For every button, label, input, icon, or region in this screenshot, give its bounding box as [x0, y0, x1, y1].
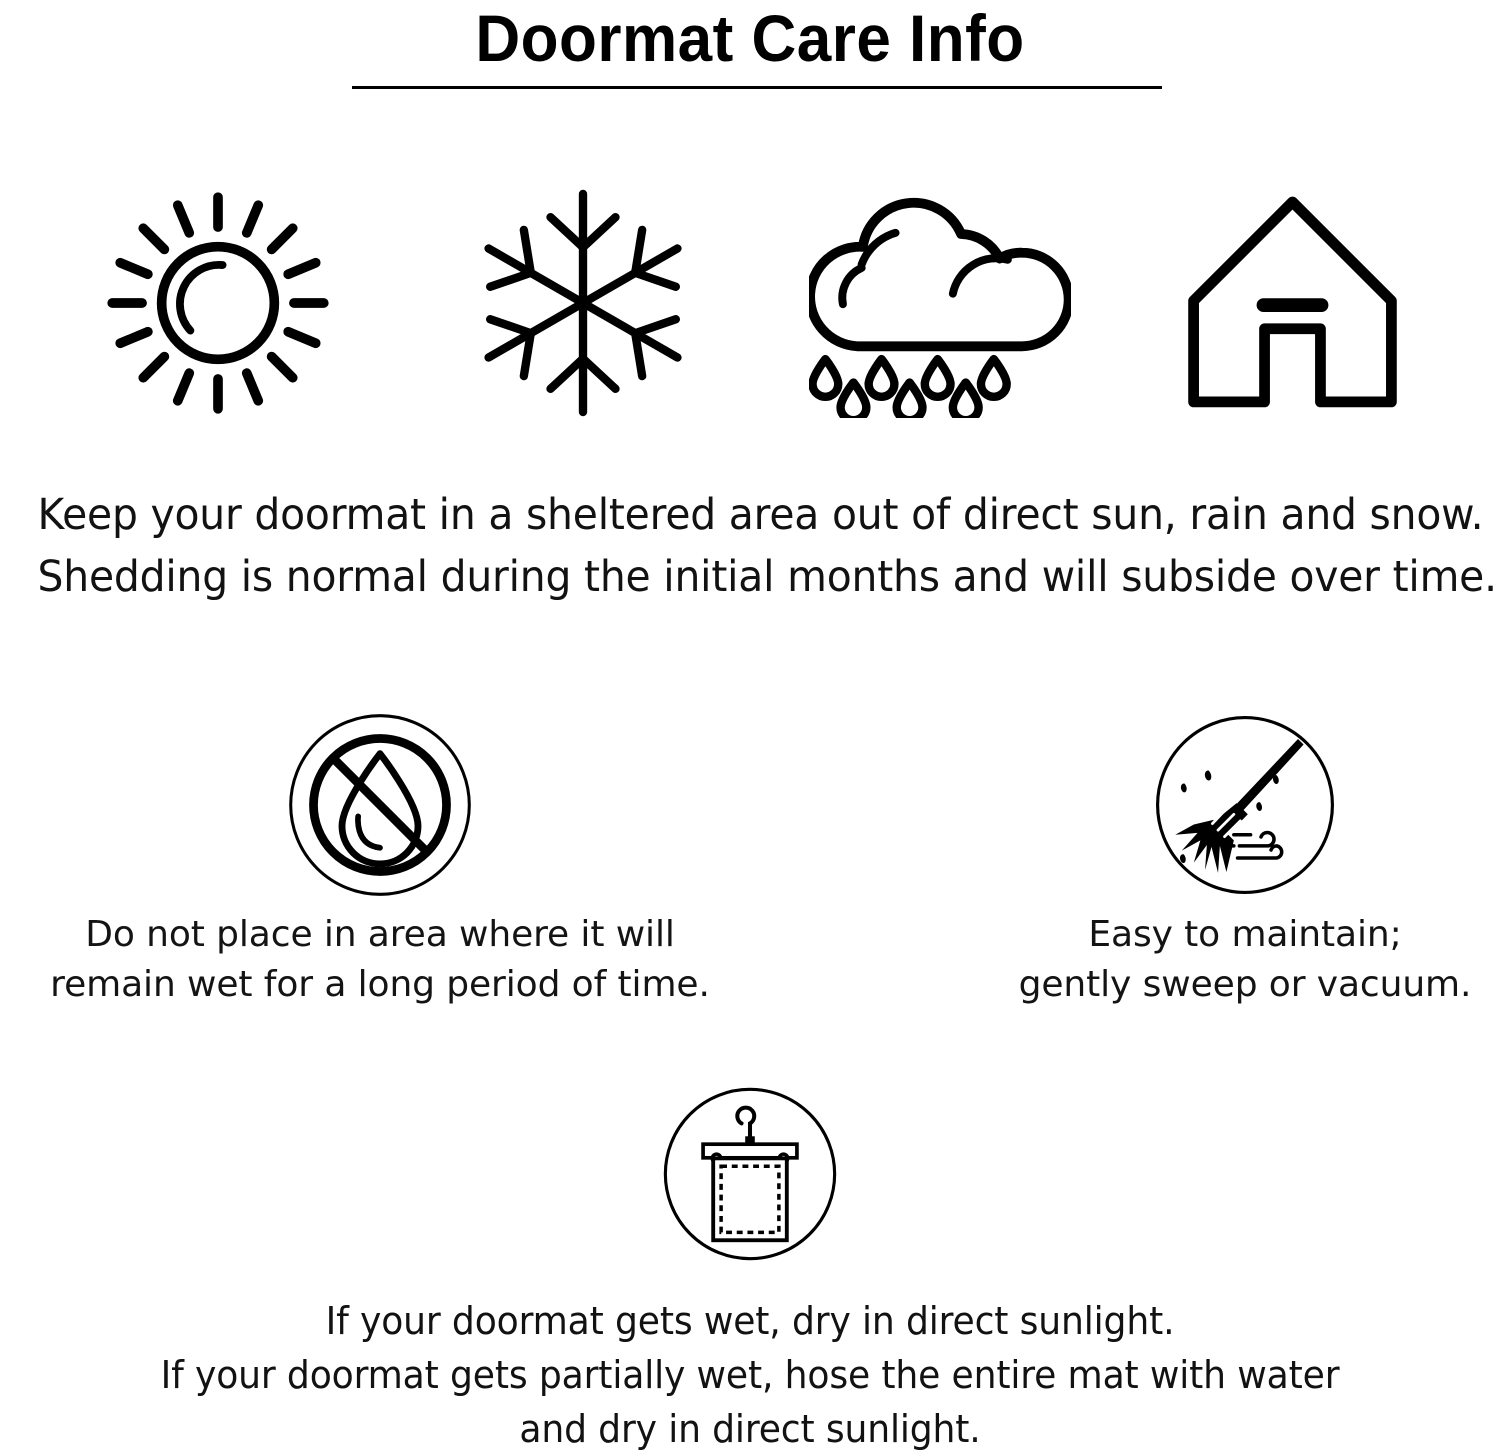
snowflake-icon [467, 187, 699, 419]
weather-icon-cell-snowflake [453, 178, 713, 428]
broom-icon [1152, 712, 1338, 898]
drying-section: If your doormat gets wet, dry in direct … [0, 1070, 1500, 1456]
intro-paragraph: Keep your doormat in a sheltered area ou… [38, 484, 1463, 608]
no-water-caption-line-2: remain wet for a long period of time. [50, 960, 710, 1010]
house-icon [1185, 193, 1400, 413]
sweep-caption-line-1: Easy to maintain; [915, 910, 1500, 960]
drying-caption-line-1: If your doormat gets wet, dry in direct … [38, 1294, 1463, 1348]
intro-line-1: Keep your doormat in a sheltered area ou… [38, 484, 1463, 546]
hang-dry-icon-wrap [0, 1070, 1500, 1278]
weather-icon-cell-house [1162, 178, 1422, 428]
drying-caption-line-3: and dry in direct sunlight. [38, 1402, 1463, 1456]
no-water-icon-wrap [50, 700, 710, 910]
no-water-icon [285, 710, 475, 900]
sweep-caption-line-2: gently sweep or vacuum. [915, 960, 1500, 1010]
intro-line-2: Shedding is normal during the initial mo… [38, 546, 1463, 608]
broom-icon-wrap [915, 700, 1500, 910]
weather-icon-cell-sun [88, 178, 348, 428]
weather-icon-cell-rain [810, 178, 1070, 428]
no-water-caption: Do not place in area where it will remai… [50, 910, 710, 1010]
drying-caption: If your doormat gets wet, dry in direct … [38, 1294, 1463, 1456]
sun-icon [103, 188, 333, 418]
drying-caption-line-2: If your doormat gets partially wet, hose… [38, 1348, 1463, 1402]
title-divider [352, 86, 1162, 89]
weather-icon-row [0, 178, 1500, 428]
hang-dry-icon [658, 1082, 842, 1266]
no-water-caption-line-1: Do not place in area where it will [50, 910, 710, 960]
rain-cloud-icon [809, 188, 1071, 418]
page-title: Doormat Care Info [45, 0, 1455, 74]
care-tip-no-water: Do not place in area where it will remai… [50, 700, 710, 1010]
header: Doormat Care Info [0, 0, 1500, 74]
care-tip-sweep: Easy to maintain; gently sweep or vacuum… [915, 700, 1500, 1010]
sweep-caption: Easy to maintain; gently sweep or vacuum… [915, 910, 1500, 1010]
